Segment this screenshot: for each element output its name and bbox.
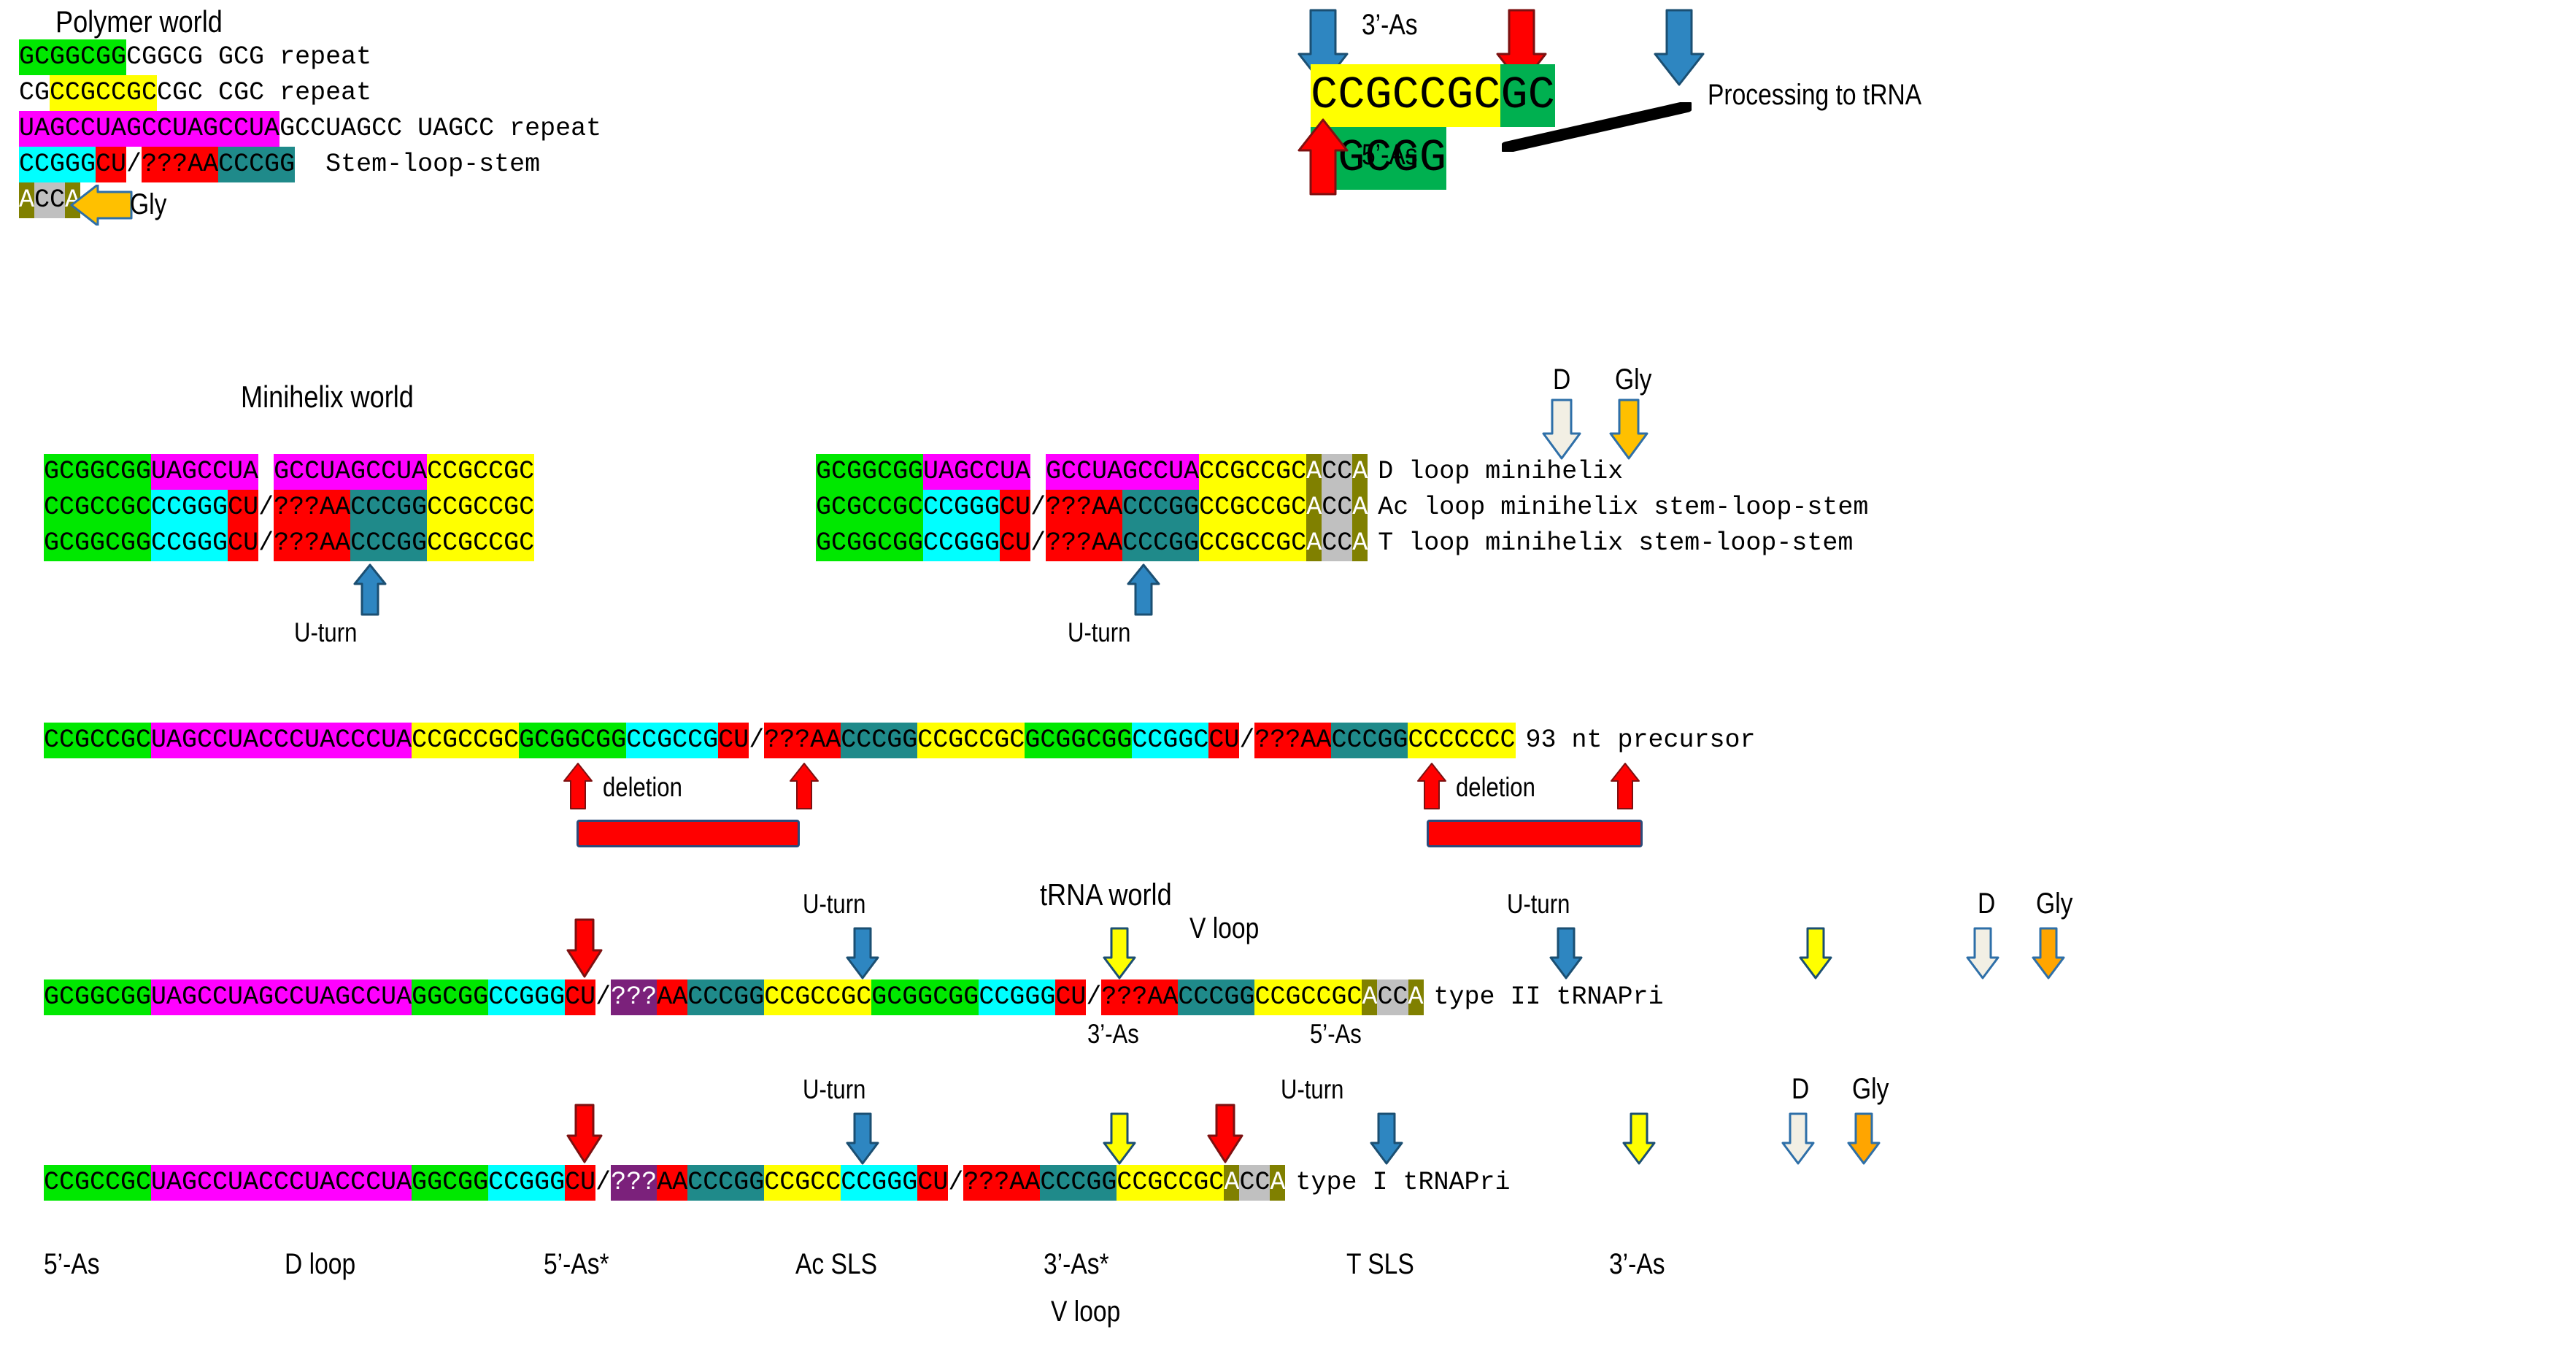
seq-block: CU xyxy=(1055,979,1086,1015)
seq-block: A xyxy=(1362,979,1377,1015)
type1-gly-label: Gly xyxy=(1852,1073,1889,1106)
seq-block: CCCGG xyxy=(687,979,764,1015)
seq-block: CCCGG xyxy=(687,1165,764,1201)
type2-vloop-label: V loop xyxy=(1189,912,1259,945)
deletion-right-bar xyxy=(1427,820,1643,847)
seq-block: CU xyxy=(1208,723,1239,758)
deletion-left-arrow-a-icon xyxy=(562,762,594,810)
processing-5as-label: 5’-As xyxy=(1362,139,1418,172)
seq-block: ??? xyxy=(611,1165,657,1201)
type2-5as-label: 5’-As xyxy=(1310,1019,1362,1050)
seq-block: A xyxy=(1352,490,1368,526)
seq-block: GCGGCGG xyxy=(44,454,151,490)
seq-block: CCGCCGC xyxy=(1117,1165,1224,1201)
seq-block: CCGCCGC xyxy=(50,75,157,111)
seq-block: UAGCCUAGCCUAGCCUA xyxy=(151,979,412,1015)
seq-block: AA xyxy=(657,979,687,1015)
seq-block: CCGCCGC xyxy=(427,490,534,526)
seq-block: GCGGCGG xyxy=(1025,723,1132,758)
type1-red-arrow-1-icon xyxy=(566,1104,603,1163)
seq-block: GCGGCGG xyxy=(44,979,151,1015)
seq-block: CCGCCGC xyxy=(764,979,871,1015)
minihelix-right-uturn-arrow-icon xyxy=(1126,563,1161,616)
seq-block: CU xyxy=(565,1165,595,1201)
seq-block: CCCGG xyxy=(1122,490,1199,526)
type2-gly-arrow-icon xyxy=(2031,927,2066,979)
type1-red-arrow-2-icon xyxy=(1206,1104,1244,1163)
deletion-left-arrow-b-icon xyxy=(788,762,820,810)
seq-block: CCGCCGC xyxy=(44,1165,151,1201)
seq-block: CC xyxy=(1322,526,1352,561)
minihelix-left-uturn-arrow-icon xyxy=(352,563,387,616)
seq-block: ???AA xyxy=(963,1165,1040,1201)
type1-gly-arrow-icon xyxy=(1846,1112,1881,1165)
seq-block: CCGGG xyxy=(19,147,96,182)
precursor-row: CCGCCGCUAGCCUACCCUACCCUACCGCCGCGCGGCGGCC… xyxy=(44,723,1756,758)
seq-block: CU xyxy=(96,147,126,182)
seq-block: UAGCCUA xyxy=(923,454,1030,490)
bottom-label: 3’-As xyxy=(1609,1248,1665,1281)
type2-uturn-label-2: U-turn xyxy=(1507,889,1570,920)
seq-block: UAGCCUAGCCUAGCCUA xyxy=(19,111,279,147)
type1-row: CCGCCGCUAGCCUACCCUACCCUAGGCGGCCGGGCU/???… xyxy=(44,1165,1511,1201)
seq-block: ???AA xyxy=(1046,526,1122,561)
seq-block: CCGCCGC xyxy=(412,723,519,758)
polymer-row-gcg-repeat: GCGGCGGCGGCG GCG repeat xyxy=(19,39,371,75)
seq-note: 93 nt precursor xyxy=(1516,723,1756,758)
seq-block: ???AA xyxy=(142,147,218,182)
seq-block: CC xyxy=(1377,979,1408,1015)
seq-block: CC xyxy=(34,182,65,218)
minihelix-right-row-d: GCGGCGGUAGCCUA GCCUAGCCUACCGCCGCACCAD lo… xyxy=(816,454,1623,490)
polymer-row-stem-loop-stem: CCGGGCU/???AACCCGG Stem-loop-stem xyxy=(19,147,540,182)
seq-block: ???AA xyxy=(1046,490,1122,526)
seq-block: / xyxy=(1030,490,1046,526)
seq-block: / xyxy=(749,723,764,758)
seq-block: CU xyxy=(228,526,258,561)
seq-block: / xyxy=(258,526,274,561)
seq-block: GCGGCGG xyxy=(816,454,923,490)
seq-note: D loop minihelix xyxy=(1368,454,1623,490)
seq-block: / xyxy=(258,490,274,526)
processing-3as-label: 3’-As xyxy=(1362,9,1418,42)
processing-arrow-red-bottom-icon xyxy=(1296,118,1350,196)
seq-block: GCCUAGCC UAGCC repeat xyxy=(279,111,601,147)
type1-d-arrow-icon xyxy=(1781,1112,1816,1165)
bottom-label: 3’-As* xyxy=(1044,1248,1109,1281)
seq-block: GGCGG xyxy=(412,979,488,1015)
seq-block xyxy=(258,454,274,490)
seq-block: / xyxy=(948,1165,963,1201)
seq-note: Ac loop minihelix stem-loop-stem xyxy=(1368,490,1868,526)
deletion-right-label: deletion xyxy=(1456,772,1535,803)
type2-uturn-arrow-1-icon xyxy=(845,927,880,979)
seq-block: / xyxy=(1030,526,1046,561)
bottom-label: T SLS xyxy=(1346,1248,1414,1281)
seq-block: CCCGG xyxy=(350,490,427,526)
type1-yellow-arrow-2-icon xyxy=(1621,1112,1657,1165)
seq-block: CCGCCGC xyxy=(1254,979,1362,1015)
seq-block: CCGCCGC xyxy=(44,490,151,526)
seq-note: type II tRNAPri xyxy=(1424,979,1664,1015)
seq-block: GGCGG xyxy=(412,1165,488,1201)
seq-block: CCGGG xyxy=(151,490,228,526)
processing-arrow-blue-right-icon xyxy=(1652,9,1706,86)
polymer-row-cgc-repeat: CGCCGCCGCCGC CGC repeat xyxy=(19,75,371,111)
seq-block: ???AA xyxy=(274,490,350,526)
type2-3as-label: 3’-As xyxy=(1087,1019,1139,1050)
seq-block: ???AA xyxy=(1101,979,1178,1015)
minihelix-left-row-ac: CCGCCGCCCGGGCU/???AACCCGGCCGCCGC xyxy=(44,490,534,526)
seq-block: UAGCCUACCCUACCCUA xyxy=(151,723,412,758)
bottom-label: D loop xyxy=(285,1248,355,1281)
seq-block: GCGGCGG xyxy=(816,526,923,561)
type2-red-arrow-icon xyxy=(566,918,603,978)
minihelix-d-label: D xyxy=(1553,363,1570,396)
type2-uturn-arrow-2-icon xyxy=(1549,927,1584,979)
seq-block: CU xyxy=(917,1165,948,1201)
type1-uturn-arrow-2-icon xyxy=(1369,1112,1404,1165)
type2-d-arrow-icon xyxy=(1965,927,2000,979)
seq-block: CU xyxy=(1000,490,1030,526)
seq-block: CC xyxy=(1322,454,1352,490)
minihelix-left-row-d: GCGGCGGUAGCCUA GCCUAGCCUACCGCCGC xyxy=(44,454,534,490)
seq-block: / xyxy=(126,147,142,182)
seq-block: CCGCCGC xyxy=(1199,526,1306,561)
seq-block: GCGGCGG xyxy=(44,526,151,561)
seq-block: A xyxy=(1306,454,1322,490)
seq-block: CCGCCGC xyxy=(917,723,1025,758)
seq-block: CCCGG xyxy=(1178,979,1254,1015)
seq-block: GCGCCGC xyxy=(816,490,923,526)
seq-block: CCGCCGC xyxy=(1199,490,1306,526)
seq-block: A xyxy=(1352,526,1368,561)
type1-uturn-label-2: U-turn xyxy=(1281,1074,1343,1105)
seq-block: CU xyxy=(228,490,258,526)
seq-block: ???AA xyxy=(764,723,841,758)
seq-block: CU xyxy=(718,723,749,758)
seq-block: CCCGG xyxy=(1040,1165,1117,1201)
minihelix-right-row-ac: GCGCCGCCCGGGCU/???AACCCGGCCGCCGCACCAAc l… xyxy=(816,490,1868,526)
seq-block: CCGGG xyxy=(151,526,228,561)
seq-block: Stem-loop-stem xyxy=(295,147,540,182)
polymer-world-heading: Polymer world xyxy=(55,4,223,39)
seq-block: / xyxy=(595,979,611,1015)
type2-yellow-arrow-1-icon xyxy=(1102,927,1137,979)
type1-yellow-arrow-1-icon xyxy=(1102,1112,1137,1165)
seq-block: ??? xyxy=(611,979,657,1015)
type2-d-label: D xyxy=(1978,888,1995,920)
seq-block: CGGCG GCG repeat xyxy=(126,39,371,75)
type1-d-label: D xyxy=(1792,1073,1809,1106)
type2-gly-label: Gly xyxy=(2036,888,2072,920)
seq-block: GCGGCGG xyxy=(871,979,979,1015)
processing-caption: Processing to tRNA xyxy=(1708,79,1921,112)
minihelix-gly-arrow-icon xyxy=(1608,399,1649,460)
minihelix-right-row-t: GCGGCGGCCGGGCU/???AACCCGGCCGCCGCACCAT lo… xyxy=(816,526,1853,561)
seq-block: CCGCCGC xyxy=(44,723,151,758)
minihelix-left-row-t: GCGGCGGCCGGGCU/???AACCCGGCCGCCGC xyxy=(44,526,534,561)
polymer-gly-label: Gly xyxy=(130,188,166,221)
seq-block: A xyxy=(1306,526,1322,561)
deletion-left-label: deletion xyxy=(603,772,682,803)
seq-block: CCGCCGC xyxy=(427,526,534,561)
processing-connector-line xyxy=(1502,102,1692,152)
seq-block: / xyxy=(1239,723,1254,758)
bottom-label: 5’-As xyxy=(44,1248,100,1281)
seq-block: CC xyxy=(1239,1165,1270,1201)
type2-yellow-arrow-2-icon xyxy=(1798,927,1833,979)
minihelix-gly-label: Gly xyxy=(1615,363,1651,396)
seq-block: CCGGG xyxy=(488,979,565,1015)
seq-block: A xyxy=(1270,1165,1285,1201)
bottom-label: Ac SLS xyxy=(795,1248,877,1281)
deletion-right-arrow-a-icon xyxy=(1416,762,1448,810)
seq-block: CCGGC xyxy=(1132,723,1208,758)
seq-block: GCCUAGCCUA xyxy=(1046,454,1199,490)
gly-arrow-icon xyxy=(70,185,133,226)
seq-block: CCGCCGC xyxy=(1199,454,1306,490)
seq-block: CCGGG xyxy=(488,1165,565,1201)
seq-block: CU xyxy=(565,979,595,1015)
seq-block: A xyxy=(19,182,34,218)
type1-uturn-label-1: U-turn xyxy=(803,1074,865,1105)
seq-block: CCCGG xyxy=(1122,526,1199,561)
seq-block: CCCGG xyxy=(218,147,295,182)
seq-block: AA xyxy=(657,1165,687,1201)
seq-block: GCGGCGG xyxy=(19,39,126,75)
seq-block: ???AA xyxy=(1254,723,1331,758)
bottom-label: V loop xyxy=(1051,1296,1120,1328)
seq-block: A xyxy=(1306,490,1322,526)
seq-block: CCGGG xyxy=(841,1165,917,1201)
seq-block: CCGGG xyxy=(979,979,1055,1015)
seq-block: CCGGG xyxy=(923,526,1000,561)
seq-block: A xyxy=(1408,979,1424,1015)
type2-row: GCGGCGGUAGCCUAGCCUAGCCUAGGCGGCCGGGCU/???… xyxy=(44,979,1664,1015)
seq-block: CCCGG xyxy=(350,526,427,561)
polymer-row-uagccua-repeat: UAGCCUAGCCUAGCCUAGCCUAGCC UAGCC repeat xyxy=(19,111,601,147)
seq-block: A xyxy=(1352,454,1368,490)
seq-block: CCCCCCC xyxy=(1408,723,1515,758)
seq-block: CCGGG xyxy=(923,490,1000,526)
minihelix-world-heading: Minihelix world xyxy=(241,380,414,415)
seq-block: ???AA xyxy=(274,526,350,561)
seq-block: CC xyxy=(1322,490,1352,526)
bottom-label: 5’-As* xyxy=(544,1248,609,1281)
seq-block: CU xyxy=(1000,526,1030,561)
minihelix-d-arrow-icon xyxy=(1541,399,1582,460)
seq-block: CCGCCG xyxy=(626,723,718,758)
seq-block: CCCGG xyxy=(1331,723,1408,758)
minihelix-left-uturn-label: U-turn xyxy=(294,617,357,648)
seq-block: GCCUAGCCUA xyxy=(274,454,427,490)
seq-block: UAGCCUACCCUACCCUA xyxy=(151,1165,412,1201)
type2-uturn-label-1: U-turn xyxy=(803,889,865,920)
seq-block: CCGCC xyxy=(764,1165,841,1201)
seq-block: CGC CGC repeat xyxy=(157,75,371,111)
seq-block: / xyxy=(1086,979,1101,1015)
seq-block: / xyxy=(595,1165,611,1201)
seq-block xyxy=(1030,454,1046,490)
seq-block: CG xyxy=(19,75,50,111)
seq-note: type I tRNAPri xyxy=(1285,1165,1510,1201)
type1-uturn-arrow-1-icon xyxy=(845,1112,880,1165)
seq-block: A xyxy=(1224,1165,1239,1201)
deletion-left-bar xyxy=(576,820,800,847)
seq-note: T loop minihelix stem-loop-stem xyxy=(1368,526,1853,561)
minihelix-right-uturn-label: U-turn xyxy=(1068,617,1130,648)
deletion-right-arrow-b-icon xyxy=(1609,762,1641,810)
seq-block: UAGCCUA xyxy=(151,454,258,490)
seq-block: CCGCCGC xyxy=(427,454,534,490)
trna-world-heading: tRNA world xyxy=(1040,877,1172,912)
seq-block: CCCGG xyxy=(841,723,917,758)
seq-block: GCGGCGG xyxy=(519,723,626,758)
